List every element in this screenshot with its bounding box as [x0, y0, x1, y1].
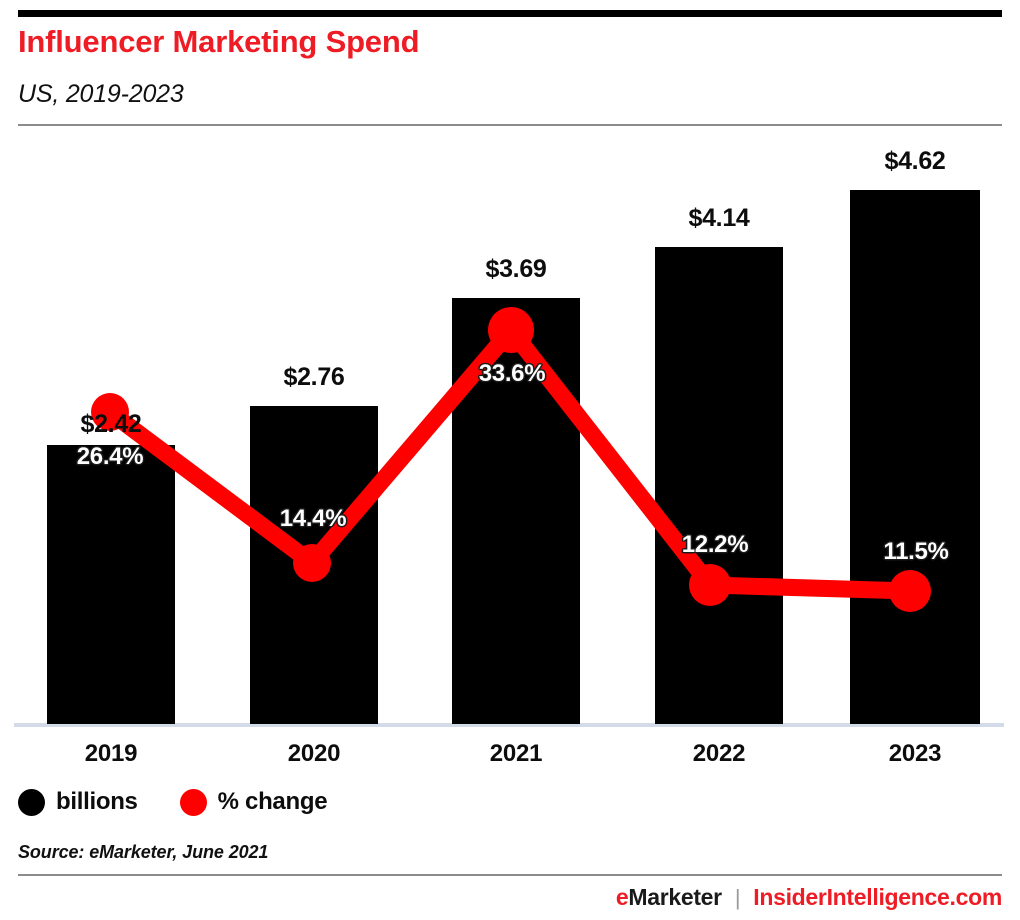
x-tick-2019: 2019 [47, 740, 175, 768]
pct-label-2019: 26.4% [46, 443, 174, 471]
brand-emarketer[interactable]: eMarketer [616, 884, 722, 911]
bar-value-label-2021: $3.69 [452, 255, 580, 284]
legend-dot-black-icon [18, 789, 45, 816]
chart-page: Influencer Marketing Spend US, 2019-2023… [0, 0, 1020, 920]
footer-site-link[interactable]: InsiderIntelligence.com [753, 884, 1002, 911]
bar-value-label-2022: $4.14 [655, 204, 783, 233]
source-note: Source: eMarketer, June 2021 [18, 842, 268, 863]
footer-divider [18, 874, 1002, 876]
bar-2019 [47, 445, 175, 724]
chart-plot-area: $2.42 $2.76 $3.69 $4.14 $4.62 26.4% 14.4… [0, 0, 1020, 920]
legend-label-billions: billions [56, 788, 138, 816]
pct-label-2021: 33.6% [448, 360, 576, 388]
legend-item-billions[interactable]: billions [18, 788, 138, 816]
bar-2022 [655, 247, 783, 724]
bar-2020 [250, 406, 378, 724]
x-tick-2021: 2021 [452, 740, 580, 768]
x-tick-2022: 2022 [655, 740, 783, 768]
pct-label-2020: 14.4% [249, 505, 377, 533]
bar-2023 [850, 190, 980, 724]
footer-branding: eMarketer | InsiderIntelligence.com [616, 884, 1002, 911]
brand-accent-letter: e [616, 884, 629, 910]
x-tick-2020: 2020 [250, 740, 378, 768]
bar-value-label-2019: $2.42 [47, 410, 175, 439]
pct-label-2022: 12.2% [651, 531, 779, 559]
footer-separator: | [735, 885, 740, 911]
pct-label-2023: 11.5% [851, 538, 981, 566]
bar-value-label-2020: $2.76 [250, 363, 378, 392]
bar-value-label-2023: $4.62 [850, 147, 980, 176]
chart-legend: billions % change [18, 788, 327, 816]
x-tick-2023: 2023 [850, 740, 980, 768]
legend-item-pct-change[interactable]: % change [180, 788, 328, 816]
brand-name-text: Marketer [628, 884, 722, 910]
legend-label-pct-change: % change [218, 788, 328, 816]
legend-dot-red-icon [180, 789, 207, 816]
